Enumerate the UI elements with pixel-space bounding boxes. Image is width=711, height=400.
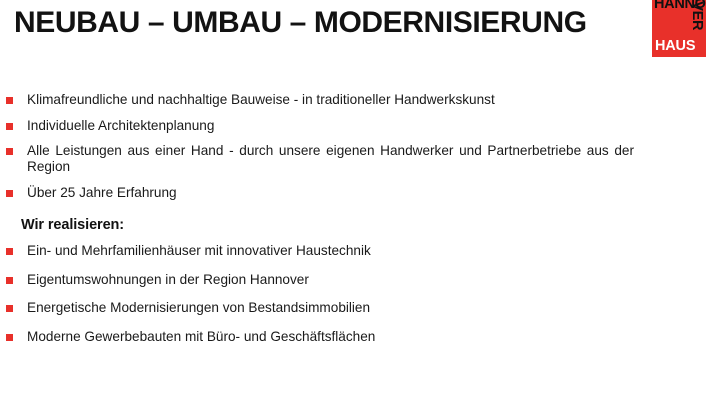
square-bullet-icon <box>6 148 13 155</box>
list-item: Klimafreundliche und nachhaltige Bauweis… <box>6 92 666 109</box>
list-item: Alle Leistungen aus einer Hand - durch u… <box>6 143 634 175</box>
logo-haus-text: HAUS <box>655 39 695 54</box>
square-bullet-icon <box>6 305 13 312</box>
list-item-label: Ein- und Mehrfamilienhäuser mit innovati… <box>27 243 666 260</box>
square-bullet-icon <box>6 277 13 284</box>
hannover-haus-logo: HANNOV OVER HAUS <box>652 0 706 57</box>
list-item-label: Moderne Gewerbebauten mit Büro- und Gesc… <box>27 329 666 346</box>
list-item: Energetische Modernisierungen von Bestan… <box>6 300 666 317</box>
realisieren-list: Ein- und Mehrfamilienhäuser mit innovati… <box>6 243 666 345</box>
square-bullet-icon <box>6 123 13 130</box>
square-bullet-icon <box>6 190 13 197</box>
list-item: Über 25 Jahre Erfahrung <box>6 185 666 202</box>
square-bullet-icon <box>6 248 13 255</box>
list-item-label: Klimafreundliche und nachhaltige Bauweis… <box>27 92 666 109</box>
list-item-label: Über 25 Jahre Erfahrung <box>27 185 666 202</box>
slide-root: HANNOV OVER HAUS NEUBAU – UMBAU – MODERN… <box>0 0 711 400</box>
section-heading: Wir realisieren: <box>21 217 666 234</box>
list-item: Moderne Gewerbebauten mit Büro- und Gesc… <box>6 329 666 346</box>
logo-over-text-vertical: OVER <box>690 0 705 30</box>
list-item-label: Eigentumswohnungen in der Region Hannove… <box>27 272 666 289</box>
square-bullet-icon <box>6 97 13 104</box>
slide-title: NEUBAU – UMBAU – MODERNISIERUNG <box>14 6 634 41</box>
list-item: Individuelle Architektenplanung <box>6 118 666 135</box>
list-item-label: Individuelle Architektenplanung <box>27 118 666 135</box>
square-bullet-icon <box>6 334 13 341</box>
slide-body: Klimafreundliche und nachhaltige Bauweis… <box>6 92 666 358</box>
list-item: Eigentumswohnungen in der Region Hannove… <box>6 272 666 289</box>
list-item-label: Alle Leistungen aus einer Hand - durch u… <box>27 143 634 175</box>
list-item-label: Energetische Modernisierungen von Bestan… <box>27 300 666 317</box>
list-item: Ein- und Mehrfamilienhäuser mit innovati… <box>6 243 666 260</box>
